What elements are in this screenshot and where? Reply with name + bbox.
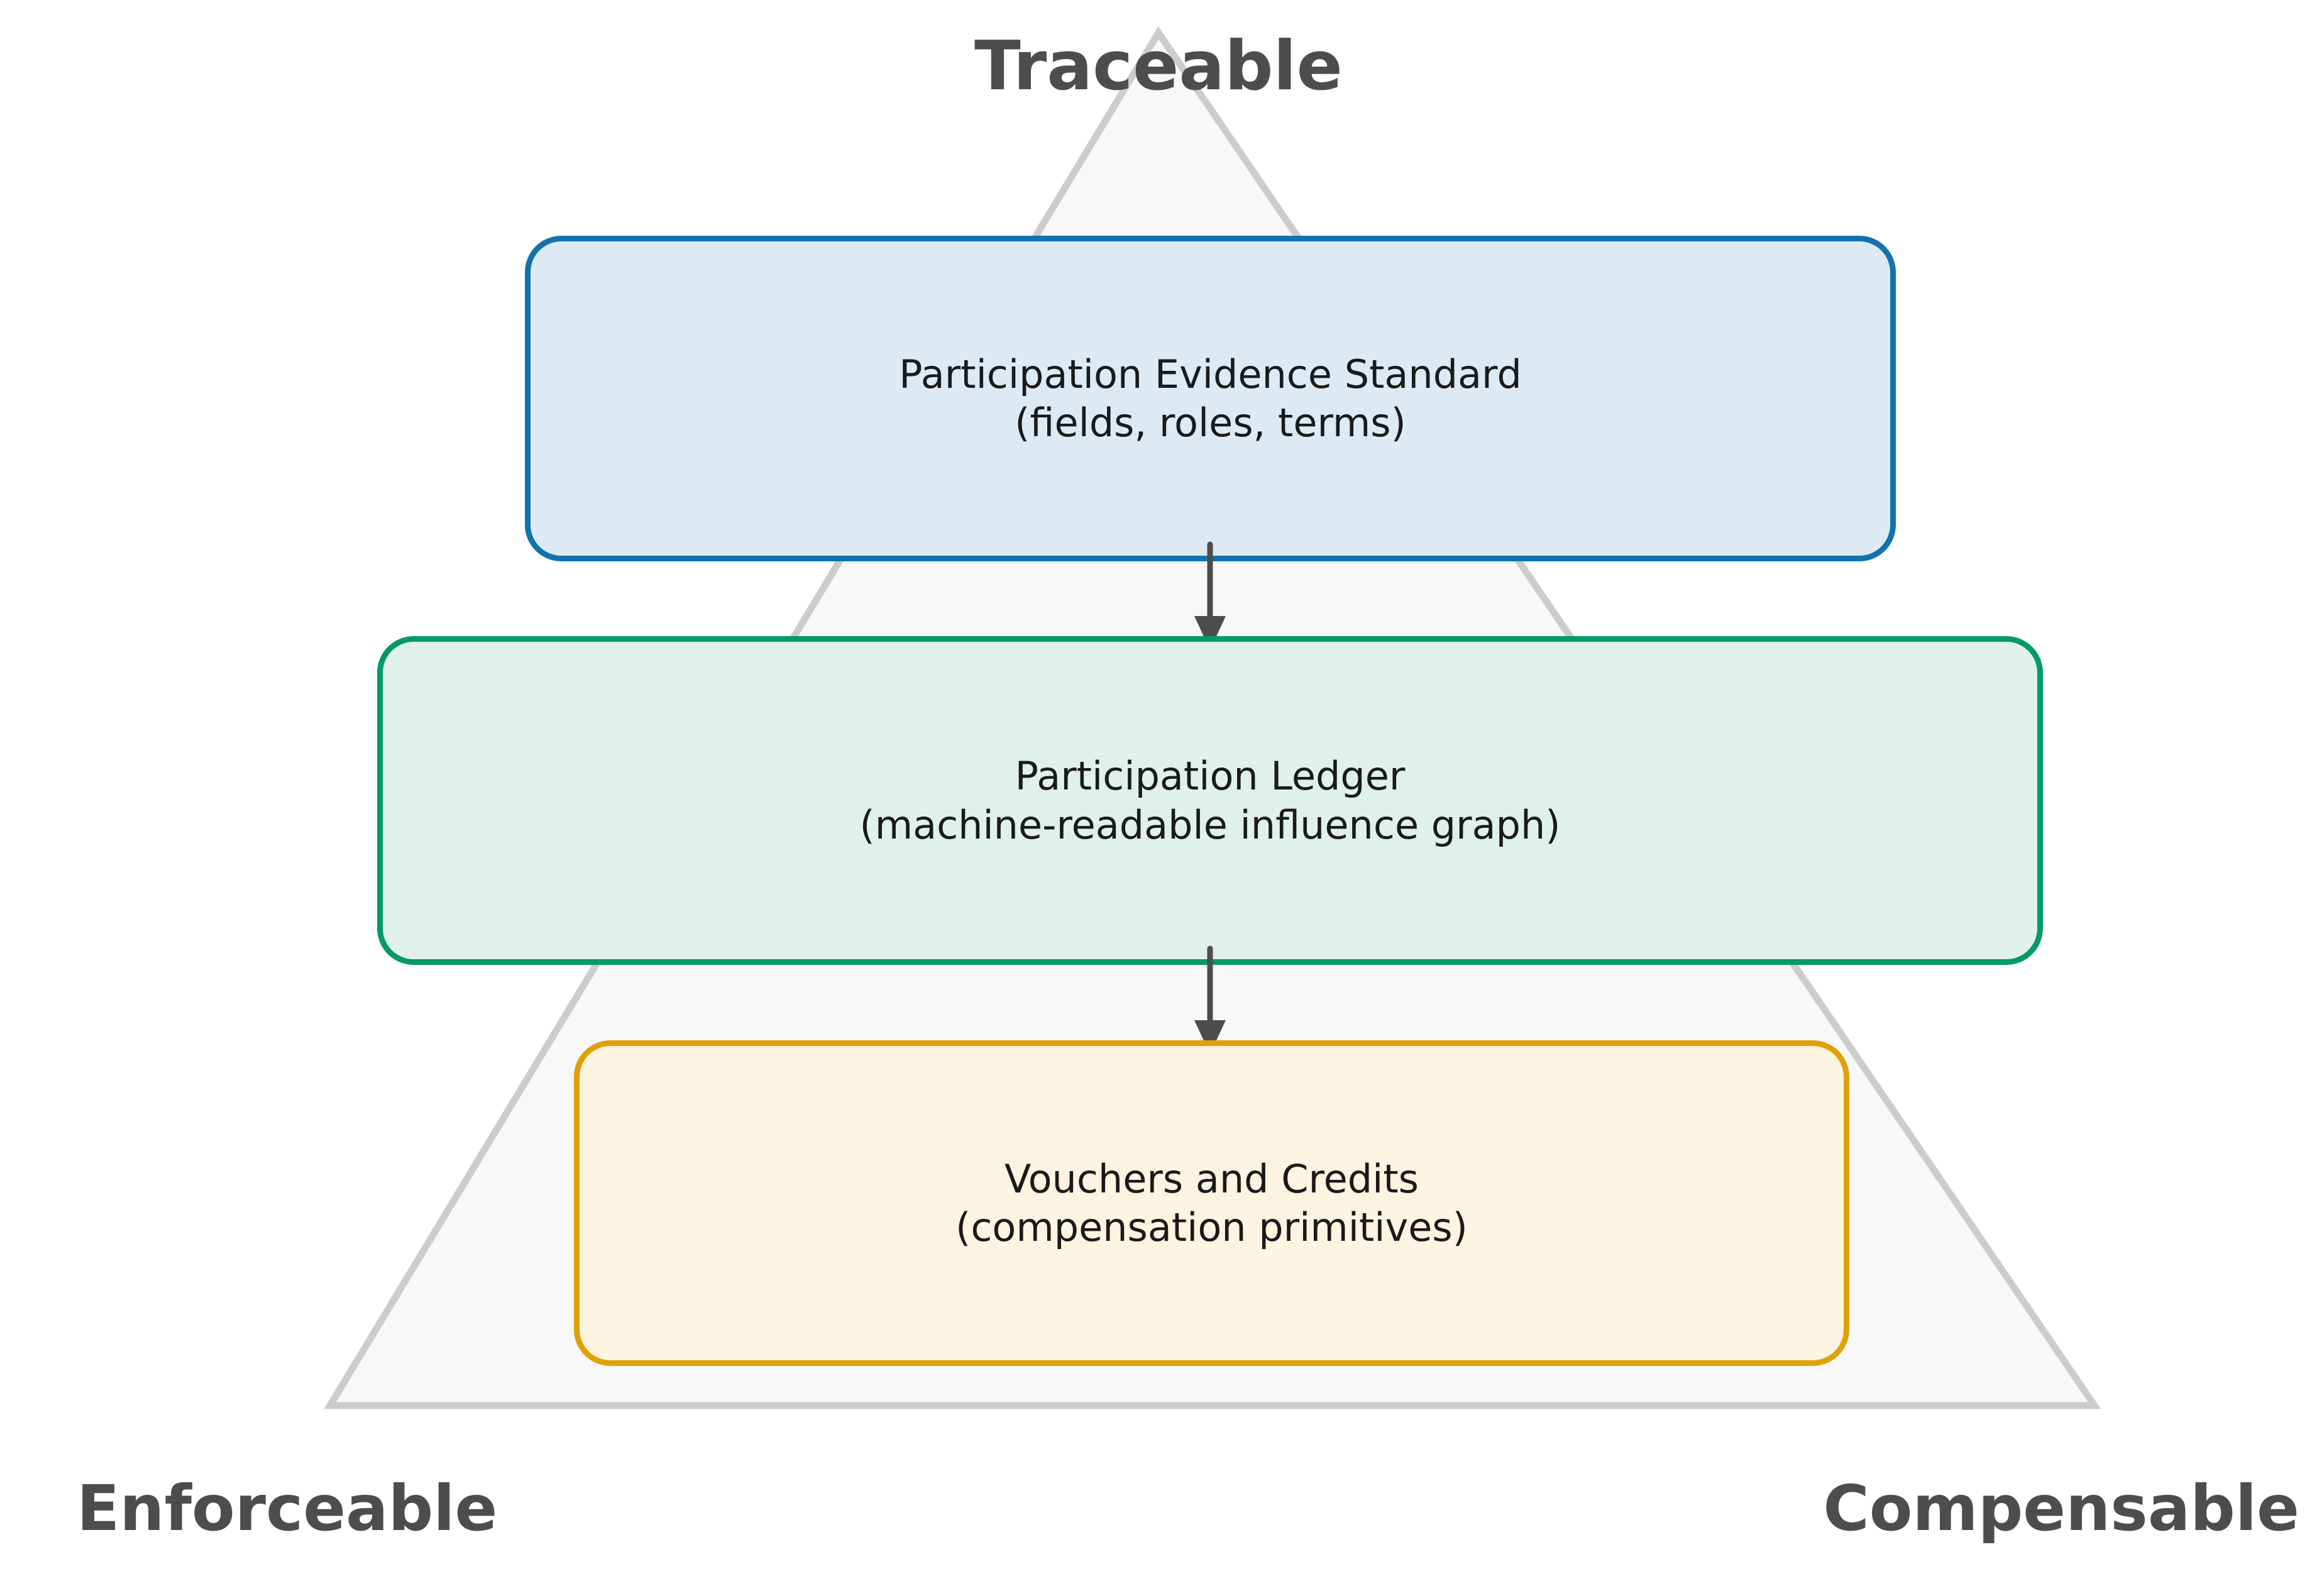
layer-label-vouchers-and-credits: Vouchers and Credits (compensation primi…	[955, 1155, 1468, 1252]
layer-label-participation-ledger: Participation Ledger (machine-readable i…	[860, 752, 1561, 849]
layer-box-participation-ledger[interactable]: Participation Ledger (machine-readable i…	[377, 636, 2043, 965]
apex-label-traceable: Traceable	[0, 33, 2317, 101]
layer-label-participation-evidence-standard: Participation Evidence Standard (fields,…	[899, 350, 1522, 448]
diagram-canvas: Traceable Participation Evidence Standar…	[0, 0, 2317, 1596]
layer-box-participation-evidence-standard[interactable]: Participation Evidence Standard (fields,…	[525, 236, 1896, 561]
corner-label-enforceable: Enforceable	[77, 1477, 497, 1540]
corner-label-compensable: Compensable	[1823, 1477, 2299, 1540]
layer-box-vouchers-and-credits[interactable]: Vouchers and Credits (compensation primi…	[574, 1040, 1849, 1366]
